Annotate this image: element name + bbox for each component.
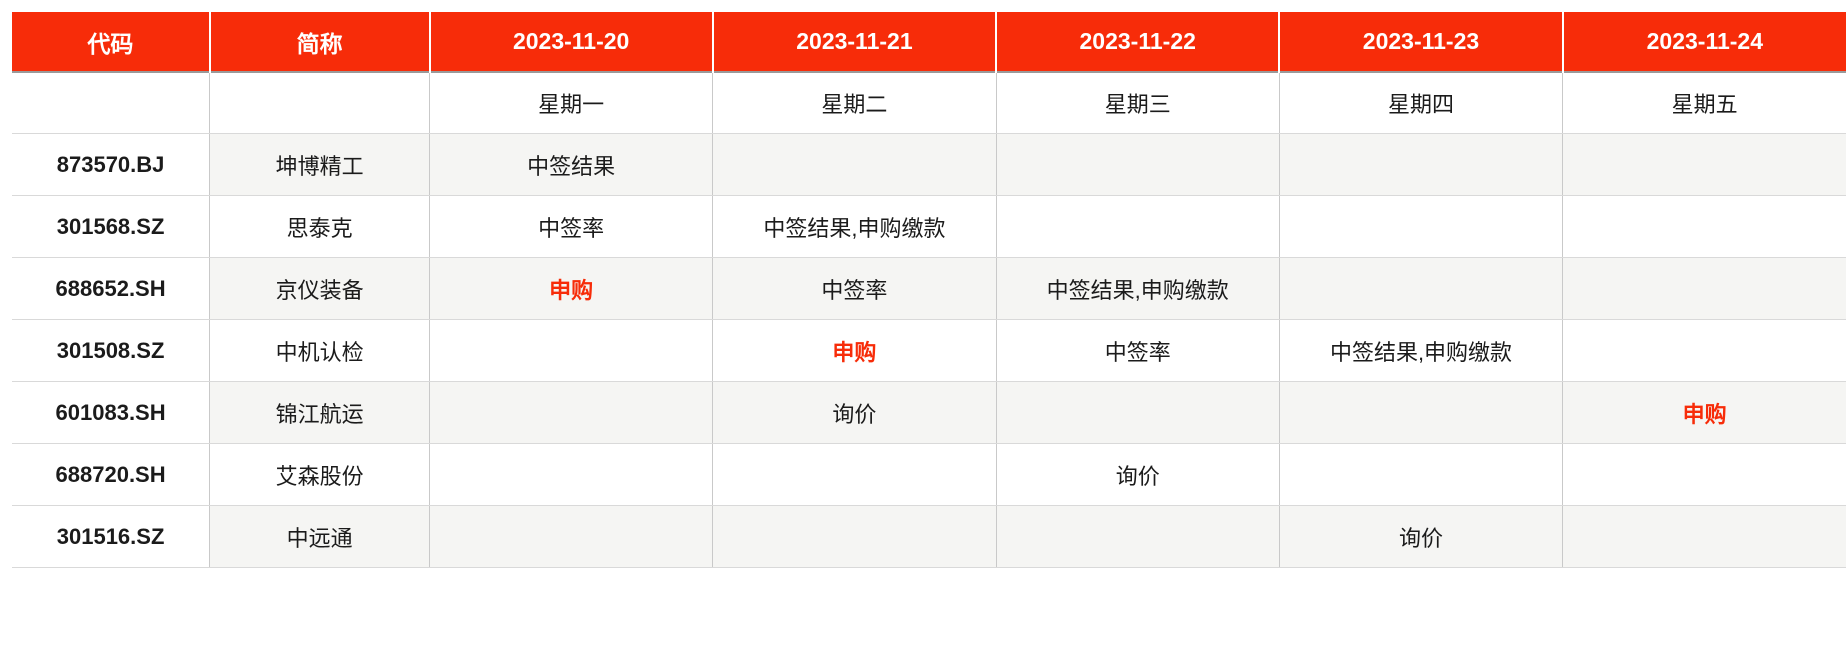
cell-event-2023-11-21[interactable] xyxy=(713,506,996,568)
column-header-date-2023-11-20[interactable]: 2023-11-20 xyxy=(430,12,713,72)
weekday-cell-2023-11-20: 星期一 xyxy=(430,72,713,134)
cell-event-2023-11-20[interactable] xyxy=(430,382,713,444)
cell-stock-code[interactable]: 301508.SZ xyxy=(12,320,210,382)
cell-event-2023-11-23[interactable] xyxy=(1279,134,1562,196)
cell-event-2023-11-21[interactable]: 申购 xyxy=(713,320,996,382)
column-header-date-2023-11-23[interactable]: 2023-11-23 xyxy=(1279,12,1562,72)
table-row[interactable]: 301508.SZ 中机认检 申购 中签率 中签结果,申购缴款 xyxy=(12,320,1846,382)
cell-event-2023-11-24[interactable] xyxy=(1563,258,1846,320)
cell-event-2023-11-23[interactable] xyxy=(1279,196,1562,258)
event-label: 中签结果,申购缴款 xyxy=(1047,273,1229,305)
cell-event-2023-11-24[interactable] xyxy=(1563,444,1846,506)
column-header-date-2023-11-21[interactable]: 2023-11-21 xyxy=(713,12,996,72)
cell-event-2023-11-20[interactable] xyxy=(430,320,713,382)
event-label: 中签率 xyxy=(1105,335,1171,367)
cell-event-2023-11-21[interactable] xyxy=(713,444,996,506)
cell-event-2023-11-22[interactable] xyxy=(996,196,1279,258)
cell-event-2023-11-22[interactable] xyxy=(996,506,1279,568)
cell-event-2023-11-21[interactable]: 中签结果,申购缴款 xyxy=(713,196,996,258)
weekday-cell-2023-11-23: 星期四 xyxy=(1279,72,1562,134)
cell-event-2023-11-23[interactable]: 询价 xyxy=(1279,506,1562,568)
weekday-cell-2023-11-22: 星期三 xyxy=(996,72,1279,134)
table-row[interactable]: 601083.SH 锦江航运 询价 申购 xyxy=(12,382,1846,444)
ipo-schedule-table: 代码 简称 2023-11-20 2023-11-21 2023-11-22 2… xyxy=(12,12,1846,568)
table-row[interactable]: 688652.SH 京仪装备 申购 中签率 中签结果,申购缴款 xyxy=(12,258,1846,320)
cell-stock-code[interactable]: 301516.SZ xyxy=(12,506,210,568)
cell-event-2023-11-22[interactable] xyxy=(996,134,1279,196)
event-label: 中签率 xyxy=(538,211,604,243)
event-label-subscribe: 申购 xyxy=(1683,397,1727,429)
column-header-code[interactable]: 代码 xyxy=(12,12,210,72)
cell-stock-code[interactable]: 301568.SZ xyxy=(12,196,210,258)
cell-event-2023-11-21[interactable]: 询价 xyxy=(713,382,996,444)
cell-event-2023-11-22[interactable]: 中签率 xyxy=(996,320,1279,382)
event-label: 中签率 xyxy=(821,273,887,305)
event-label: 中签结果,申购缴款 xyxy=(763,211,945,243)
cell-event-2023-11-24[interactable]: 申购 xyxy=(1563,382,1846,444)
event-label: 询价 xyxy=(1399,521,1443,553)
cell-stock-code[interactable]: 688652.SH xyxy=(12,258,210,320)
weekday-cell-code xyxy=(12,72,210,134)
cell-event-2023-11-21[interactable] xyxy=(713,134,996,196)
cell-event-2023-11-22[interactable]: 中签结果,申购缴款 xyxy=(996,258,1279,320)
table-row[interactable]: 873570.BJ 坤博精工 中签结果 xyxy=(12,134,1846,196)
cell-stock-name[interactable]: 坤博精工 xyxy=(210,134,430,196)
cell-stock-name[interactable]: 艾森股份 xyxy=(210,444,430,506)
cell-stock-name[interactable]: 京仪装备 xyxy=(210,258,430,320)
cell-event-2023-11-20[interactable]: 申购 xyxy=(430,258,713,320)
event-label: 中签结果,申购缴款 xyxy=(1330,335,1512,367)
table-row[interactable]: 301516.SZ 中远通 询价 xyxy=(12,506,1846,568)
cell-event-2023-11-23[interactable] xyxy=(1279,258,1562,320)
cell-event-2023-11-20[interactable] xyxy=(430,506,713,568)
event-label-subscribe: 申购 xyxy=(549,273,593,305)
cell-stock-name[interactable]: 中机认检 xyxy=(210,320,430,382)
cell-event-2023-11-22[interactable] xyxy=(996,382,1279,444)
cell-stock-name[interactable]: 锦江航运 xyxy=(210,382,430,444)
header-row-dates: 代码 简称 2023-11-20 2023-11-21 2023-11-22 2… xyxy=(12,12,1846,72)
cell-event-2023-11-20[interactable] xyxy=(430,444,713,506)
cell-event-2023-11-21[interactable]: 中签率 xyxy=(713,258,996,320)
cell-event-2023-11-23[interactable]: 中签结果,申购缴款 xyxy=(1279,320,1562,382)
cell-event-2023-11-20[interactable]: 中签率 xyxy=(430,196,713,258)
event-label: 询价 xyxy=(1116,459,1160,491)
event-label-subscribe: 申购 xyxy=(832,335,876,367)
weekday-row: 星期一 星期二 星期三 星期四 星期五 xyxy=(12,72,1846,134)
weekday-cell-2023-11-24: 星期五 xyxy=(1563,72,1846,134)
cell-stock-name[interactable]: 思泰克 xyxy=(210,196,430,258)
cell-event-2023-11-24[interactable] xyxy=(1563,196,1846,258)
event-label: 询价 xyxy=(832,397,876,429)
cell-event-2023-11-23[interactable] xyxy=(1279,382,1562,444)
cell-event-2023-11-24[interactable] xyxy=(1563,506,1846,568)
ipo-calendar-sheet: 代码 简称 2023-11-20 2023-11-21 2023-11-22 2… xyxy=(0,0,1846,654)
cell-stock-code[interactable]: 873570.BJ xyxy=(12,134,210,196)
cell-stock-code[interactable]: 601083.SH xyxy=(12,382,210,444)
table-body: 星期一 星期二 星期三 星期四 星期五 873570.BJ 坤博精工 中签结果 … xyxy=(12,72,1846,568)
cell-stock-code[interactable]: 688720.SH xyxy=(12,444,210,506)
table-row[interactable]: 301568.SZ 思泰克 中签率 中签结果,申购缴款 xyxy=(12,196,1846,258)
cell-stock-name[interactable]: 中远通 xyxy=(210,506,430,568)
table-row[interactable]: 688720.SH 艾森股份 询价 xyxy=(12,444,1846,506)
weekday-cell-2023-11-21: 星期二 xyxy=(713,72,996,134)
cell-event-2023-11-24[interactable] xyxy=(1563,320,1846,382)
cell-event-2023-11-22[interactable]: 询价 xyxy=(996,444,1279,506)
cell-event-2023-11-20[interactable]: 中签结果 xyxy=(430,134,713,196)
column-header-date-2023-11-24[interactable]: 2023-11-24 xyxy=(1563,12,1846,72)
event-label: 中签结果 xyxy=(527,149,615,181)
cell-event-2023-11-24[interactable] xyxy=(1563,134,1846,196)
column-header-name[interactable]: 简称 xyxy=(210,12,430,72)
column-header-date-2023-11-22[interactable]: 2023-11-22 xyxy=(996,12,1279,72)
weekday-cell-name xyxy=(210,72,430,134)
table-header: 代码 简称 2023-11-20 2023-11-21 2023-11-22 2… xyxy=(12,12,1846,72)
cell-event-2023-11-23[interactable] xyxy=(1279,444,1562,506)
